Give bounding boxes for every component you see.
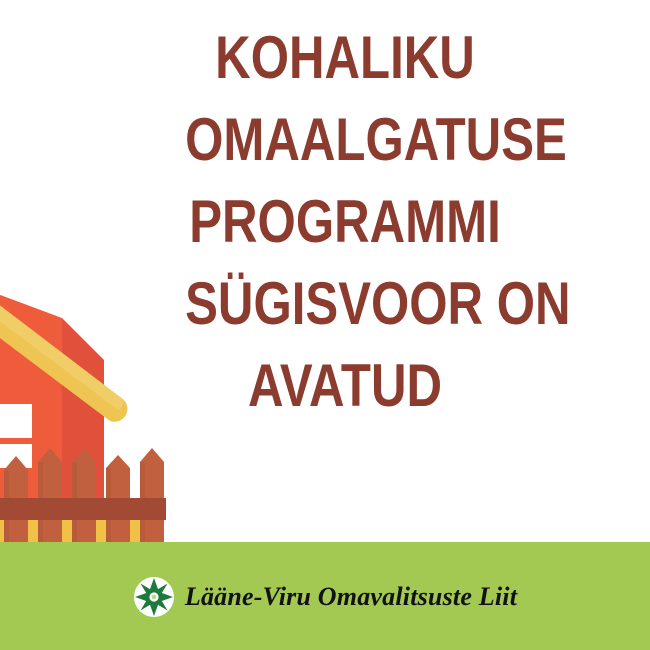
- footer-logo-lockup: Lääne-Viru Omavalitsuste Liit: [0, 576, 650, 618]
- footer-band: Lääne-Viru Omavalitsuste Liit: [0, 542, 650, 650]
- organization-name: Lääne-Viru Omavalitsuste Liit: [185, 582, 517, 612]
- page-title: KOHALIKU OMAALGATUSE PROGRAMMI SÜGISVOOR…: [150, 28, 540, 416]
- headline-line-2: OMAALGATUSE: [185, 110, 505, 170]
- poster-canvas: KOHALIKU OMAALGATUSE PROGRAMMI SÜGISVOOR…: [0, 0, 650, 650]
- headline-line-5: AVATUD: [185, 356, 505, 416]
- headline-line-4: SÜGISVOOR ON: [185, 274, 505, 334]
- headline-line-1: KOHALIKU: [185, 28, 505, 88]
- headline-line-3: PROGRAMMI: [185, 192, 505, 252]
- eight-point-star-flower-icon: [133, 576, 175, 618]
